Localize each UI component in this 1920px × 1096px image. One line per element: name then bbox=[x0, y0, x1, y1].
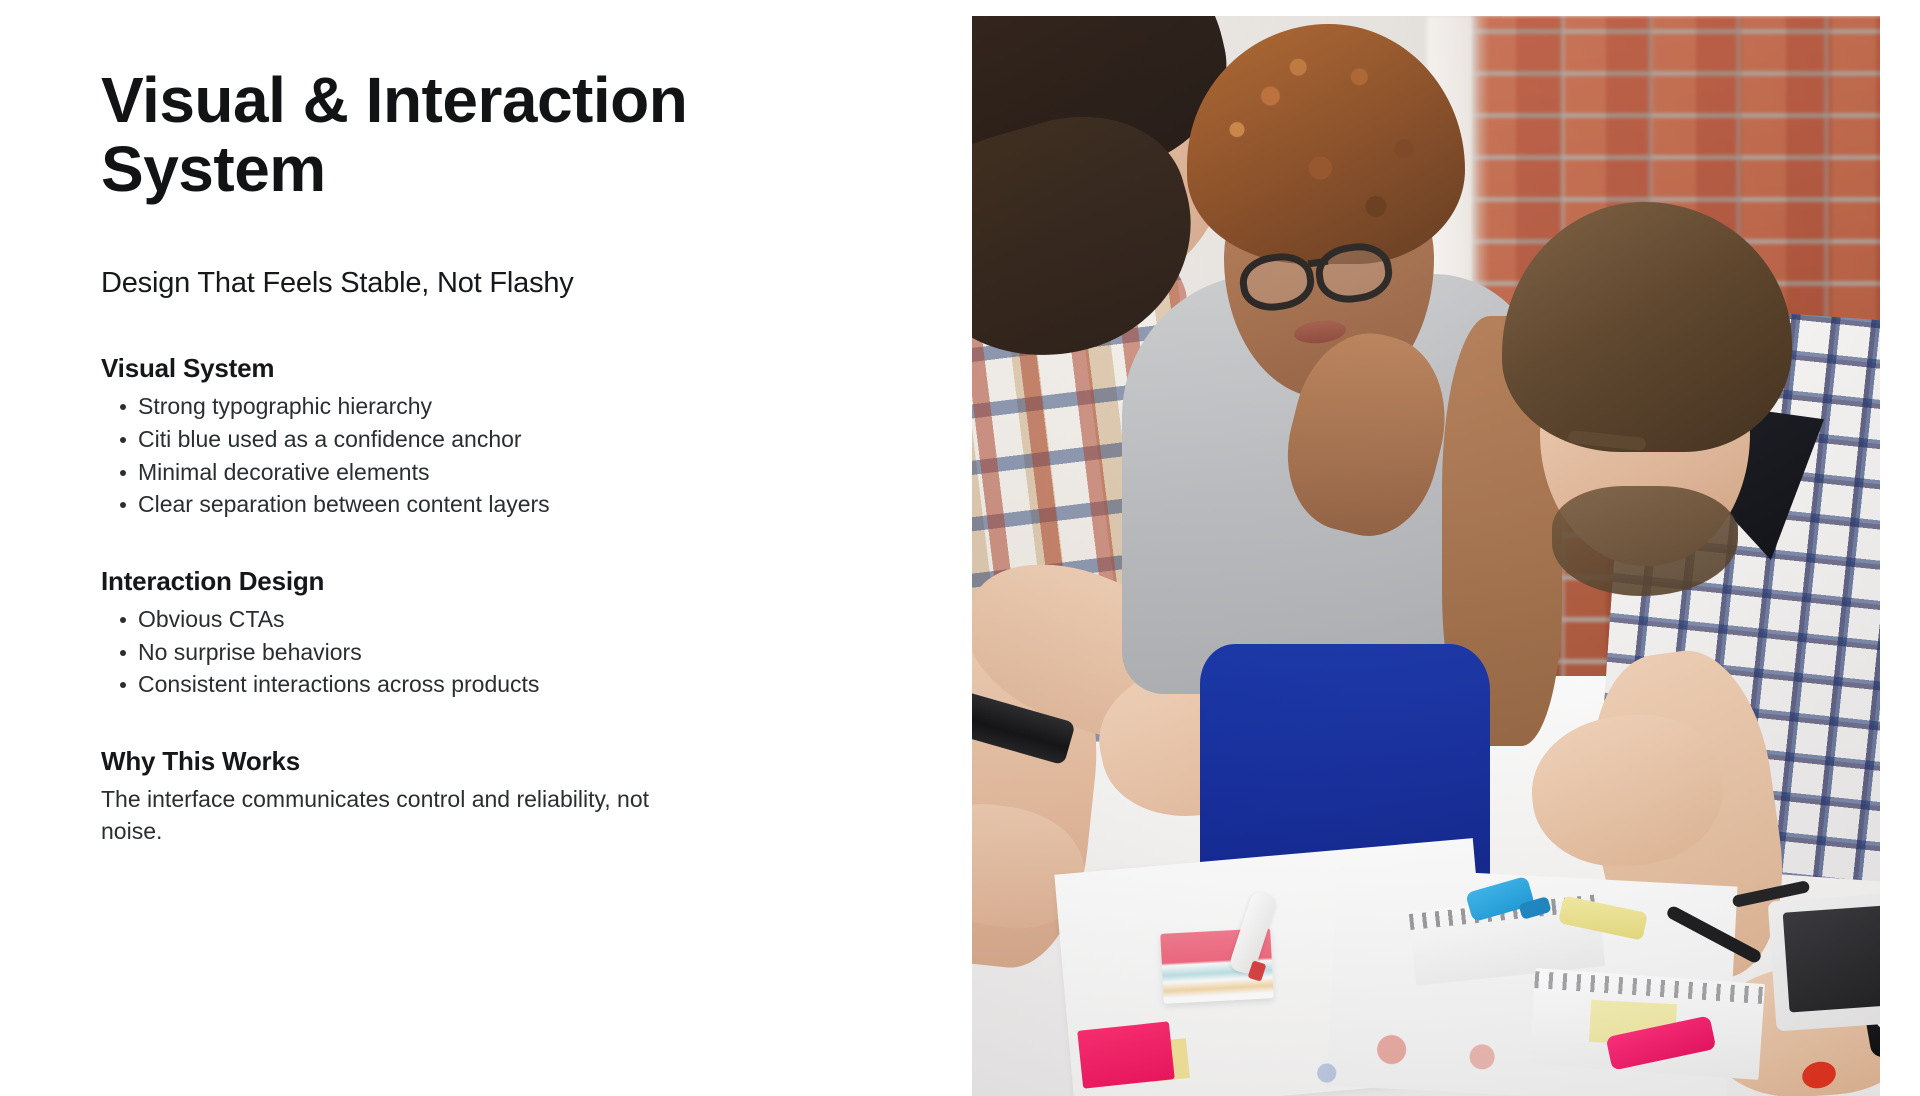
desk-sketch-drawing bbox=[1270, 1008, 1574, 1096]
section-heading-interaction-design: Interaction Design bbox=[101, 566, 842, 597]
list-item: Obvious CTAs bbox=[101, 603, 842, 636]
slide: Visual & Interaction System Design That … bbox=[0, 0, 1920, 1080]
section-heading-visual-system: Visual System bbox=[101, 353, 842, 384]
section-heading-why-this-works: Why This Works bbox=[101, 746, 842, 777]
tablet-screen bbox=[1783, 904, 1880, 1013]
list-item: Strong typographic hierarchy bbox=[101, 390, 842, 423]
list-item: Clear separation between content layers bbox=[101, 488, 842, 521]
content-panel: Visual & Interaction System Design That … bbox=[0, 0, 932, 1080]
section-visual-system: Visual System Strong typographic hierarc… bbox=[101, 353, 842, 521]
list-item: No surprise behaviors bbox=[101, 636, 842, 669]
why-this-works-body: The interface communicates control and r… bbox=[101, 783, 701, 848]
list-item: Minimal decorative elements bbox=[101, 456, 842, 489]
section-interaction-design: Interaction Design Obvious CTAs No surpr… bbox=[101, 566, 842, 701]
page-title: Visual & Interaction System bbox=[101, 66, 781, 204]
pink-sticky-note bbox=[1077, 1021, 1175, 1088]
bullet-list-visual-system: Strong typographic hierarchy Citi blue u… bbox=[101, 390, 842, 521]
section-why-this-works: Why This Works The interface communicate… bbox=[101, 746, 842, 848]
list-item: Consistent interactions across products bbox=[101, 668, 842, 701]
team-collaboration-photo bbox=[972, 16, 1880, 1096]
page-subtitle: Design That Feels Stable, Not Flashy bbox=[101, 267, 842, 300]
bullet-list-interaction-design: Obvious CTAs No surprise behaviors Consi… bbox=[101, 603, 842, 701]
list-item: Citi blue used as a confidence anchor bbox=[101, 423, 842, 456]
